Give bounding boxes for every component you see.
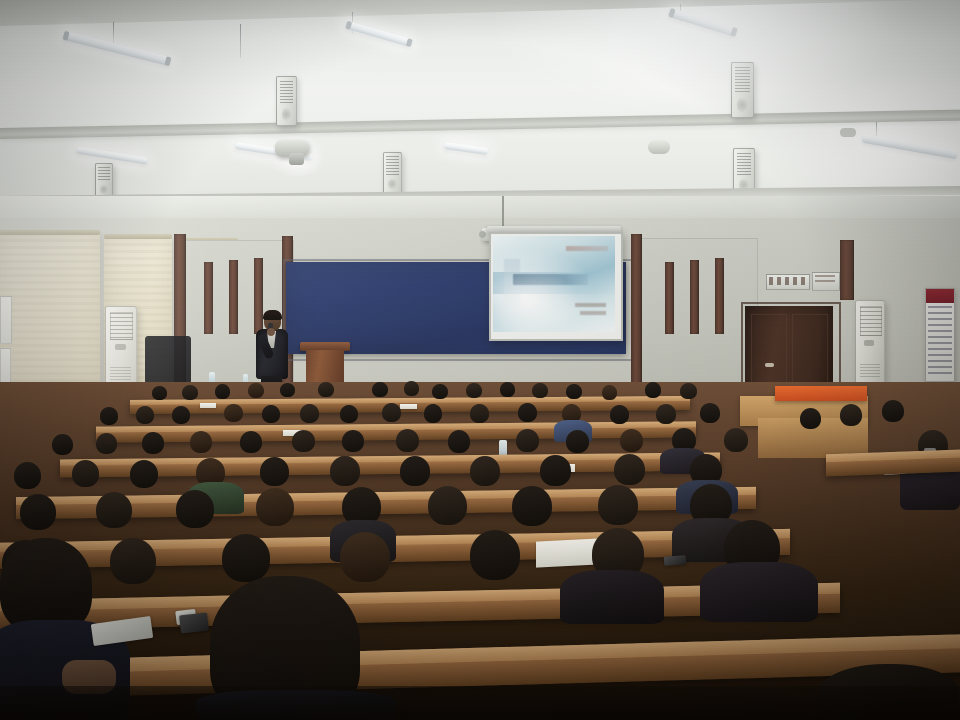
audience-head	[700, 403, 720, 423]
audience-head	[100, 407, 118, 425]
audience-head	[645, 382, 661, 398]
audience-head	[256, 488, 294, 526]
audience-head	[432, 384, 448, 399]
paper-sheet	[536, 538, 600, 567]
audience-head	[598, 485, 638, 525]
audience-head	[400, 456, 430, 486]
audience-head	[466, 383, 482, 398]
audience-head	[152, 386, 167, 400]
track-spotlight-icon	[648, 140, 670, 154]
audience-head	[656, 404, 676, 424]
audience-head	[340, 532, 390, 582]
wall-speaker-box	[95, 163, 113, 198]
audience-head	[182, 385, 198, 400]
smartphone[interactable]	[179, 613, 209, 634]
audience-head	[248, 383, 264, 398]
audience-head	[300, 404, 319, 423]
audience-head	[96, 492, 132, 528]
audience-head	[130, 460, 158, 488]
audience-head	[516, 429, 539, 452]
lecture-hall-photo	[0, 0, 960, 720]
audience-head	[396, 429, 419, 452]
audience-head	[142, 432, 164, 454]
audience-head	[280, 383, 295, 397]
presenter-hair	[263, 310, 282, 320]
audience-head	[318, 382, 334, 397]
audience-head	[20, 494, 56, 530]
track-spotlight-head	[289, 153, 304, 165]
audience-head	[470, 456, 500, 486]
audience-head	[614, 454, 645, 485]
audience-head	[176, 490, 214, 528]
orange-banner	[775, 386, 867, 401]
audience-head	[215, 384, 230, 399]
front-chair	[145, 336, 191, 384]
audience-head	[14, 462, 41, 489]
audience-head	[330, 456, 360, 486]
presenter-hand	[267, 328, 275, 336]
audience-head	[424, 404, 442, 423]
audience-head	[404, 381, 419, 396]
audience-head	[262, 405, 280, 423]
smoke-detector-icon	[840, 128, 856, 137]
audience-head	[292, 430, 315, 452]
wall-speaker-box	[383, 152, 402, 194]
audience-head	[224, 404, 243, 422]
audience-head	[382, 403, 401, 422]
audience-head	[610, 405, 629, 424]
audience-head	[190, 431, 212, 453]
audience-head	[96, 433, 117, 454]
audience-head	[260, 457, 289, 486]
wall-speaker-box	[731, 62, 754, 118]
audience-head	[566, 430, 589, 453]
audience-head	[518, 403, 537, 422]
audience-head	[240, 431, 262, 453]
audience-head	[840, 404, 862, 426]
audience-head	[428, 486, 467, 525]
audience-head	[566, 384, 582, 399]
audience-head	[172, 406, 190, 424]
smartphone[interactable]	[664, 555, 687, 566]
desk-row	[826, 450, 960, 477]
audience-head	[602, 385, 617, 400]
wall-speaker-box	[276, 76, 297, 126]
audience-head	[680, 383, 697, 399]
audience-head	[512, 486, 552, 526]
light-drop-rod	[240, 24, 241, 58]
audience-head	[470, 530, 520, 580]
audience-head	[724, 428, 748, 452]
audience-torso	[700, 562, 818, 622]
audience-head	[500, 382, 515, 397]
audience-head	[342, 430, 364, 452]
ceiling	[0, 0, 960, 215]
audience-head	[110, 538, 156, 584]
audience-torso	[560, 570, 664, 624]
audience-head	[136, 406, 154, 424]
paper-sheet	[400, 404, 417, 409]
audience-head	[222, 534, 270, 582]
audience-head	[540, 455, 571, 486]
audience-head	[882, 400, 904, 422]
audience-head	[340, 405, 358, 423]
audience-head	[470, 404, 489, 423]
audience-head	[800, 408, 821, 429]
audience-head	[72, 460, 99, 487]
audience-head	[52, 434, 73, 455]
audience-head	[372, 382, 388, 397]
paper-sheet	[200, 403, 216, 408]
audience-head	[448, 430, 470, 453]
wall-shading	[0, 196, 960, 411]
audience-head	[620, 429, 643, 452]
foreground-shadow	[0, 686, 960, 720]
presenter	[252, 312, 292, 390]
audience-head	[532, 383, 548, 398]
